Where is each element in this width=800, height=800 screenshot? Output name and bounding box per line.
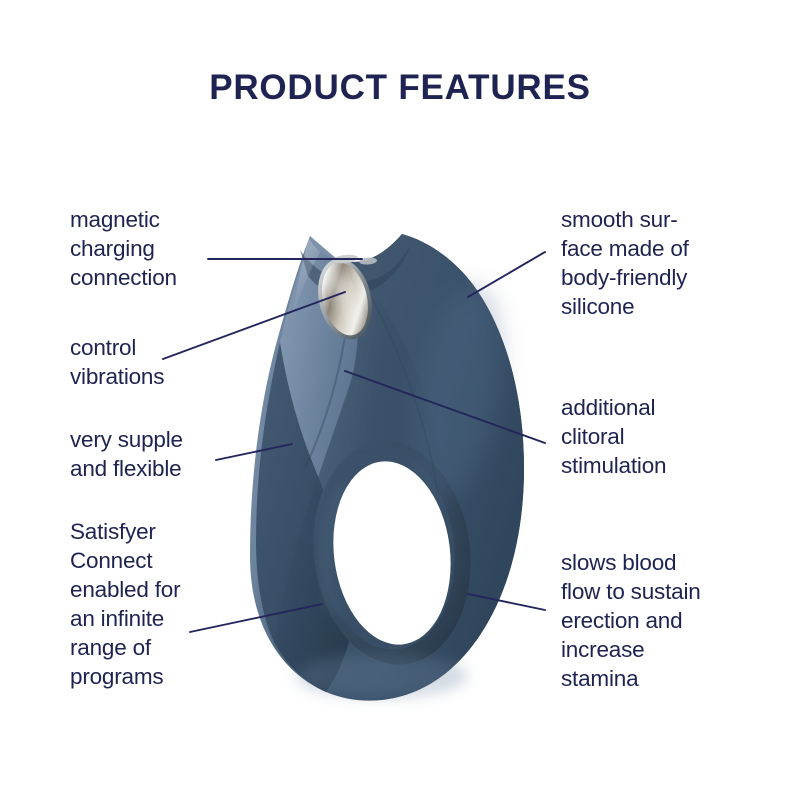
- product-right-lobe: [352, 234, 524, 700]
- magnetic-charging-contacts: [332, 254, 378, 265]
- product-lower-left-lobe: [256, 342, 354, 692]
- feature-label-satisfyer-connect: Satisfyer Connect enabled for an infinit…: [70, 517, 270, 691]
- product-ring-tunnel-inner: [306, 438, 466, 657]
- product-seam-right: [352, 262, 438, 494]
- product-bottom-rim-light: [296, 654, 468, 698]
- leader-line-smooth-surface: [468, 252, 545, 297]
- product-right-highlight: [402, 279, 515, 505]
- product-top-saddle: [300, 246, 410, 296]
- feature-label-control-vibrations: control vibrations: [70, 333, 270, 391]
- feature-label-additional-clitoral-stimulation: additional clitoral stimulation: [561, 393, 791, 480]
- feature-label-smooth-surface-silicone: smooth sur- face made of body-friendly s…: [561, 205, 791, 321]
- product-top-highlight: [292, 238, 320, 316]
- product-body: [250, 234, 524, 701]
- page-title: PRODUCT FEATURES: [0, 68, 800, 108]
- feature-label-slows-blood-flow: slows blood flow to sustain erection and…: [561, 548, 800, 693]
- product-features-infographic: PRODUCT FEATURES: [0, 0, 800, 800]
- product-seam: [306, 262, 352, 466]
- leader-line-additional-clitoral: [345, 371, 545, 443]
- feature-label-very-supple-and-flexible: very supple and flexible: [70, 425, 280, 483]
- product-hole-highlight: [325, 487, 344, 614]
- metallic-control-button[interactable]: [310, 253, 379, 345]
- leader-line-slows-blood-flow: [468, 594, 545, 610]
- product-ring-tunnel: [301, 432, 483, 673]
- feature-label-magnetic-charging-connection: magnetic charging connection: [70, 205, 270, 292]
